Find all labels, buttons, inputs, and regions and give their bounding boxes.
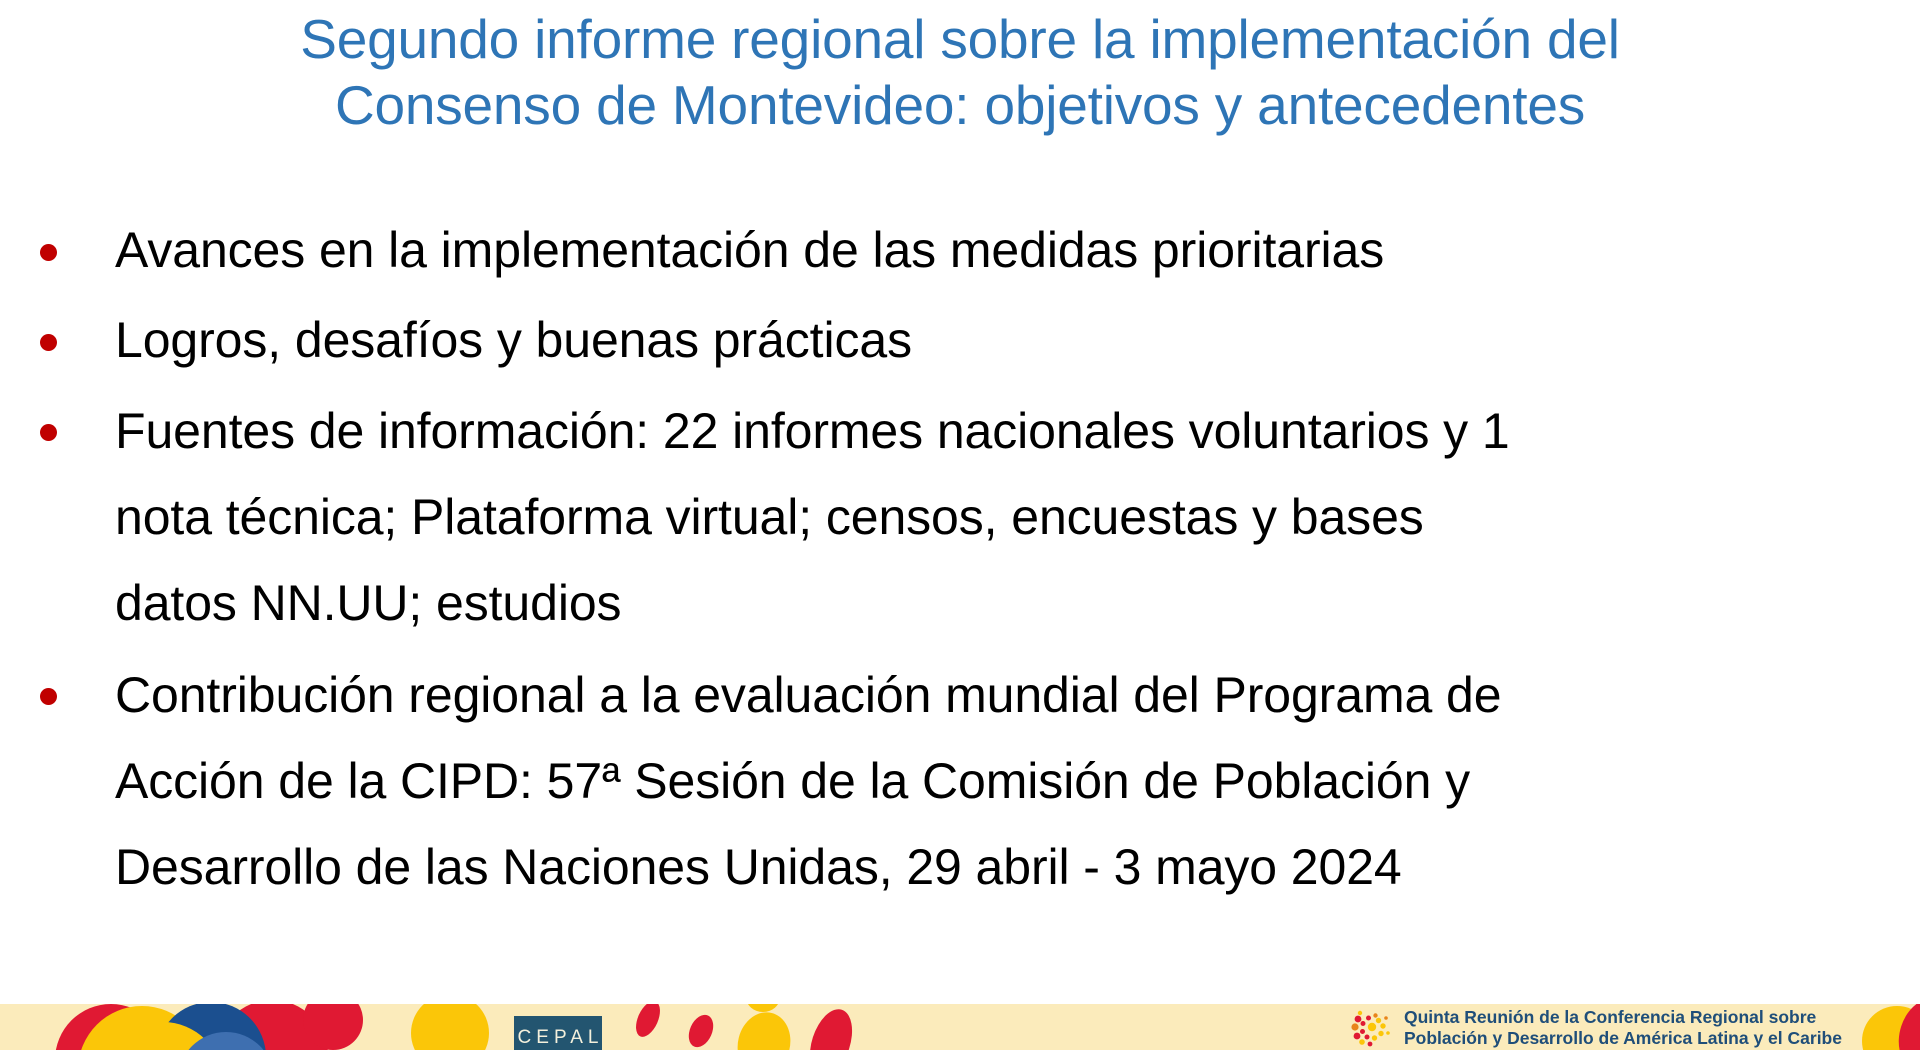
bullet-text: Contribución regional a la evaluación mu… <box>115 652 1535 910</box>
slide-title: Segundo informe regional sobre la implem… <box>110 6 1810 138</box>
decorative-ellipse-red <box>802 1004 860 1050</box>
conference-title-line-2: Población y Desarrollo de América Latina… <box>1404 1028 1842 1049</box>
decorative-circle-yellow <box>411 1004 489 1050</box>
decorative-ellipse-yellow <box>731 1007 797 1050</box>
list-item: Logros, desafíos y buenas prácticas <box>0 298 1860 382</box>
decorative-ellipse-red <box>631 1004 665 1040</box>
bullet-text: Avances en la implementación de las medi… <box>115 208 1535 292</box>
list-item: Fuentes de información: 22 informes naci… <box>0 388 1860 646</box>
decorative-ellipse-red <box>684 1011 718 1050</box>
bullet-text: Logros, desafíos y buenas prácticas <box>115 298 1535 382</box>
bullet-text-line: Acción de la CIPD: 57ª Sesión de la Comi… <box>115 738 1535 824</box>
bullet-dot-icon <box>0 652 115 736</box>
bullet-text: Fuentes de información: 22 informes naci… <box>115 388 1535 646</box>
bullet-dot-icon <box>0 298 115 382</box>
bullet-list: Avances en la implementación de las medi… <box>0 208 1860 916</box>
slide-title-line-1: Segundo informe regional sobre la implem… <box>110 6 1810 72</box>
bullet-dot-icon <box>0 388 115 472</box>
list-item: Contribución regional a la evaluación mu… <box>0 652 1860 910</box>
cepal-logo-text: CEPAL <box>513 1028 604 1047</box>
conference-branding: Quinta Reunión de la Conferencia Regiona… <box>1346 1006 1842 1050</box>
bullet-dot-icon <box>0 208 115 292</box>
footer-banner: CEPAL <box>0 1004 1920 1050</box>
bullet-text-line: datos NN.UU; estudios <box>115 560 1535 646</box>
decorative-ellipse-yellow <box>746 1004 780 1012</box>
slide-title-line-2: Consenso de Montevideo: objetivos y ante… <box>110 72 1810 138</box>
conference-title-line-1: Quinta Reunión de la Conferencia Regiona… <box>1404 1007 1842 1028</box>
bullet-text-line: Fuentes de información: 22 informes naci… <box>115 388 1535 474</box>
presentation-slide: Segundo informe regional sobre la implem… <box>0 0 1920 1050</box>
bullet-text-line: Desarrollo de las Naciones Unidas, 29 ab… <box>115 824 1535 910</box>
bullet-text-line: nota técnica; Plataforma virtual; censos… <box>115 474 1535 560</box>
conference-logo-icon <box>1346 1006 1394 1050</box>
list-item: Avances en la implementación de las medi… <box>0 208 1860 292</box>
conference-title: Quinta Reunión de la Conferencia Regiona… <box>1404 1007 1842 1049</box>
cepal-logo: CEPAL <box>514 1016 602 1050</box>
bullet-text-line: Contribución regional a la evaluación mu… <box>115 652 1535 738</box>
